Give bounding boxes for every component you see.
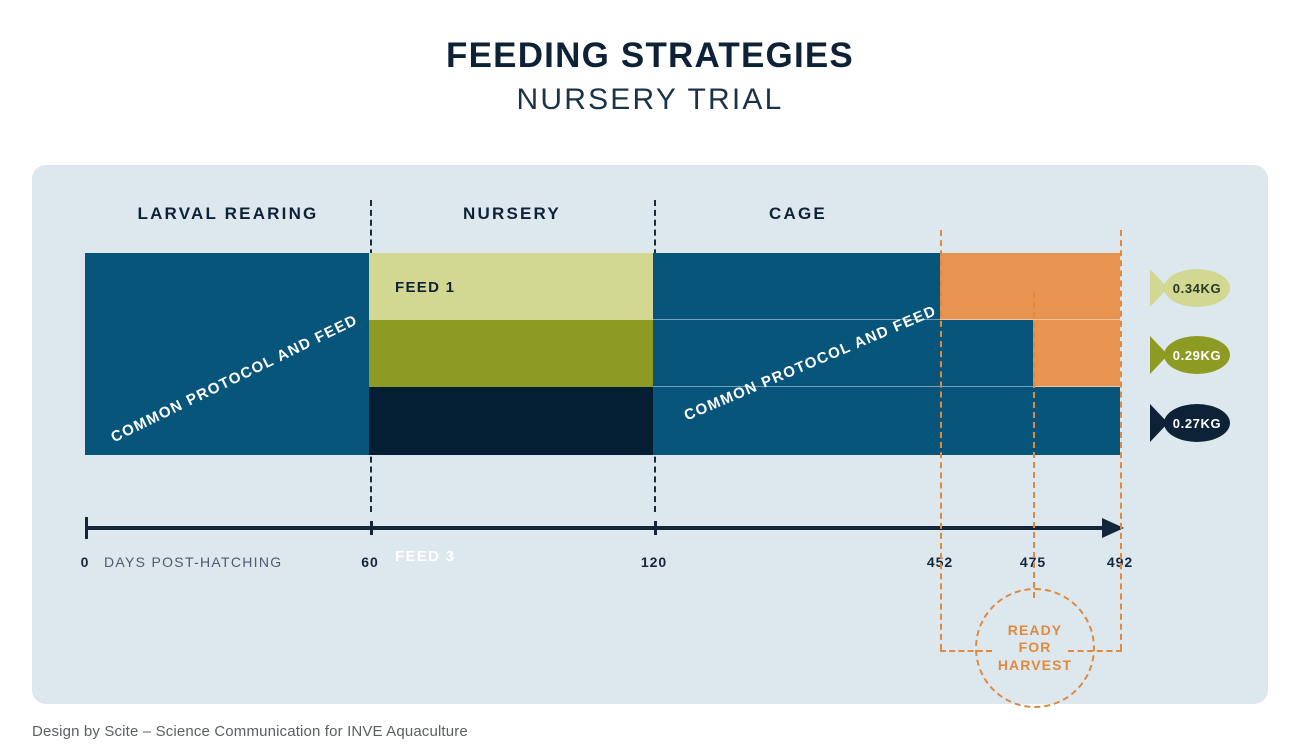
harvest-callout-line-1: READY (1008, 622, 1063, 640)
segment-nursery-feed-3 (369, 387, 653, 455)
axis-tick-0 (85, 517, 88, 539)
title-block: FEEDING STRATEGIES NURSERY TRIAL (0, 38, 1300, 115)
fish-icon-feed-2: 0.29KG (1148, 332, 1232, 378)
timeline-row-feed-1: FEED 1 (85, 253, 1120, 320)
fish-weight-label-1: 0.34KG (1148, 265, 1232, 311)
page-title: FEEDING STRATEGIES (0, 38, 1300, 73)
harvest-guide-452 (940, 230, 942, 650)
phase-label-nursery: NURSERY (370, 204, 654, 224)
fish-icon-feed-1: 0.34KG (1148, 265, 1232, 311)
axis-label-60: 60 (350, 554, 390, 570)
segment-cage-feed-1 (653, 253, 940, 320)
axis-tick-60 (370, 521, 373, 535)
harvest-callout-line-2: FOR (1019, 639, 1052, 657)
segment-harvest-feed-2 (1033, 320, 1120, 387)
footer-credit: Design by Scite – Science Communication … (32, 723, 468, 740)
page-subtitle: NURSERY TRIAL (0, 85, 1300, 115)
ready-for-harvest-callout: READY FOR HARVEST (975, 588, 1095, 708)
row-divider-2 (653, 386, 1120, 387)
phase-label-cage: CAGE (654, 204, 942, 224)
timeline-axis (85, 526, 1105, 530)
fish-weight-label-2: 0.29KG (1148, 332, 1232, 378)
harvest-guide-492 (1120, 230, 1122, 650)
timeline-row-feed-3: FEED 3 (85, 387, 1120, 455)
axis-label-0: 0 (72, 554, 98, 570)
feed-label-1: FEED 1 (395, 279, 455, 296)
segment-harvest-feed-1 (940, 253, 1120, 320)
feed-label-3: FEED 3 (395, 548, 455, 565)
harvest-guide-475 (1033, 292, 1035, 598)
segment-nursery-feed-2 (369, 320, 653, 387)
timeline-bars: FEED 1 FEED 2 FEED 3 (85, 253, 1120, 455)
axis-tick-120 (654, 521, 657, 535)
row-divider-1 (653, 319, 1120, 320)
phase-label-larval-rearing: LARVAL REARING (86, 204, 370, 224)
harvest-callout-line-3: HARVEST (998, 657, 1072, 675)
fish-icon-feed-3: 0.27KG (1148, 400, 1232, 446)
axis-label-120: 120 (631, 554, 677, 570)
axis-caption: DAYS POST-HATCHING (104, 554, 282, 570)
segment-larval-rearing-feed-1 (85, 253, 369, 320)
fish-weight-label-3: 0.27KG (1148, 400, 1232, 446)
